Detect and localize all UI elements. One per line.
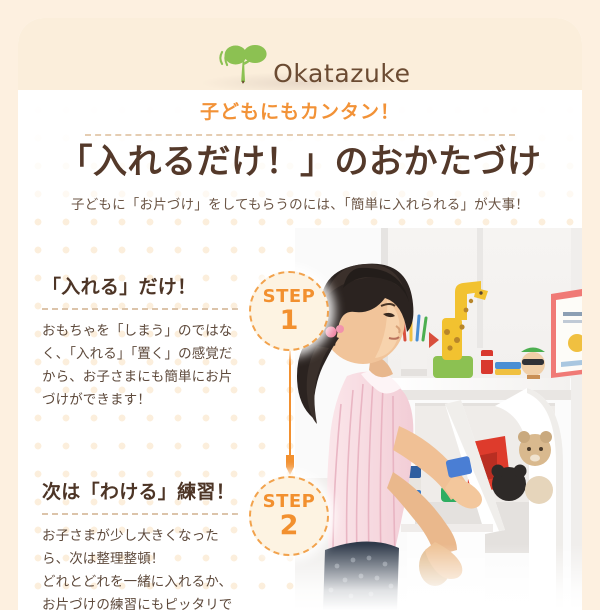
step-badge-1-number: 1 [280, 307, 299, 334]
step-badge-2-word: STEP [263, 493, 316, 511]
promo-page: Okatazuke 子どもにもカンタン！ 「入れるだけ！」のおかたづけ 子どもに… [0, 0, 600, 610]
step-2-body: お子さまが少し大きくなったら、次は整理整頓！どれとどれを一緒に入れるか、お片づけ… [42, 524, 238, 610]
step-2-heading: 次は「わける」練習！ [42, 481, 238, 506]
sprout-icon [213, 42, 271, 90]
step-1-heading: 「入れる」だけ！ [42, 276, 238, 301]
step-flow-arrow [286, 351, 294, 477]
step-1-body: おもちゃを「しまう」のではなく、「入れる」「置く」の感覚だから、お子さまにも簡単… [42, 319, 238, 412]
brand-name: Okatazuke [273, 61, 411, 90]
brand-logo: Okatazuke [213, 42, 411, 90]
step-badge-1: STEP 1 [249, 271, 329, 351]
photo-bottom-fade [295, 544, 582, 610]
step-badge-1-word: STEP [263, 288, 316, 306]
step-2-text-block: 次は「わける」練習！ お子さまが少し大きくなったら、次は整理整頓！どれとどれを一… [42, 481, 238, 610]
child-toy-shelf-photo [295, 228, 582, 610]
step-2-divider [42, 513, 238, 515]
step-1-text-block: 「入れる」だけ！ おもちゃを「しまう」のではなく、「入れる」「置く」の感覚だから… [42, 276, 238, 412]
page-title: 「入れるだけ！」のおかたづけ [18, 140, 582, 186]
headline-subtitle: 子どもに「お片づけ」をしてもらうのには、「簡単に入れられる」が大事！ [18, 193, 582, 213]
step-1-divider [42, 308, 238, 310]
content-panel: Okatazuke 子どもにもカンタン！ 「入れるだけ！」のおかたづけ 子どもに… [18, 18, 582, 610]
headline-divider [85, 134, 515, 136]
step-badge-2: STEP 2 [249, 476, 329, 556]
headline-block: 子どもにもカンタン！ 「入れるだけ！」のおかたづけ 子どもに「お片づけ」をしても… [18, 102, 582, 213]
step-badge-2-number: 2 [280, 512, 299, 539]
headline-kicker: 子どもにもカンタン！ [18, 102, 582, 125]
